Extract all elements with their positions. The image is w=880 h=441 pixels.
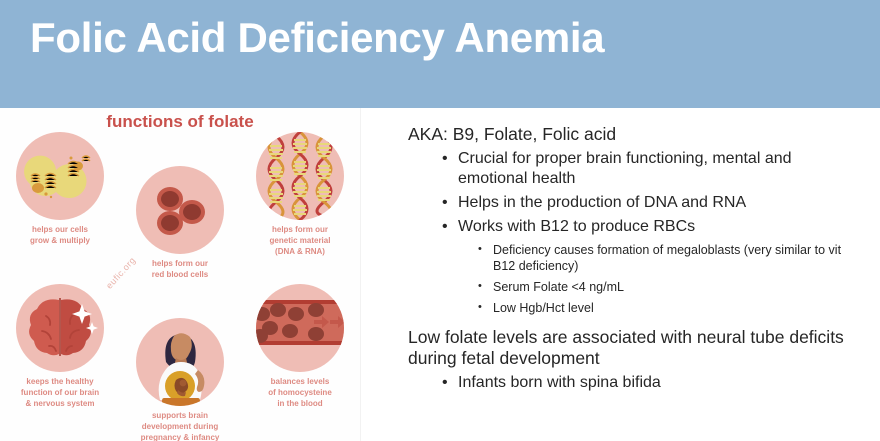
infographic-caption: helps form our red blood cells	[120, 259, 240, 281]
dna-helix-icon	[256, 132, 344, 220]
infographic-caption: balances levels of homocysteine in the b…	[240, 377, 360, 409]
slide-content: AKA: B9, Folate, Folic acid Crucial for …	[408, 124, 860, 393]
bullet-item: Crucial for proper brain functioning, me…	[442, 149, 860, 189]
sub-bullet-item: Low Hgb/Hct level	[478, 300, 860, 316]
infographic-caption: helps our cells grow & multiply	[0, 225, 120, 247]
bullet-item: Infants born with spina bifida	[442, 373, 860, 393]
content-heading-aka: AKA: B9, Folate, Folic acid	[408, 124, 860, 145]
title-banner: Folic Acid Deficiency Anemia	[0, 0, 880, 108]
content-heading-neural-tube: Low folate levels are associated with ne…	[408, 327, 860, 370]
slide: Folic Acid Deficiency Anemia functions o…	[0, 0, 880, 441]
bullet-item: Helps in the production of DNA and RNA	[442, 193, 860, 213]
panel-divider	[360, 108, 361, 441]
sub-bullet-item: Deficiency causes formation of megalobla…	[478, 242, 860, 274]
infographic-item-pregnancy: supports brain development during pregna…	[120, 318, 240, 441]
infographic-caption: helps form our genetic material (DNA & R…	[240, 225, 360, 257]
pregnant-woman-icon	[136, 318, 224, 406]
blood-vessel-icon	[256, 284, 344, 372]
page-title: Folic Acid Deficiency Anemia	[30, 14, 604, 62]
infographic-caption: supports brain development during pregna…	[120, 411, 240, 441]
infographic-item-dna: helps form our genetic material (DNA & R…	[240, 132, 360, 257]
infographic-caption: keeps the healthy function of our brain …	[0, 377, 120, 409]
sub-bullet-item: Serum Folate <4 ng/mL	[478, 279, 860, 295]
dividing-cells-icon	[16, 132, 104, 220]
brain-icon	[16, 284, 104, 372]
infographic-item-homocysteine: balances levels of homocysteine in the b…	[240, 284, 360, 409]
folate-functions-infographic: functions of folate	[0, 108, 360, 441]
infographic-item-cells: helps our cells grow & multiply	[0, 132, 120, 247]
infographic-title: functions of folate	[0, 112, 360, 132]
bullet-item: Works with B12 to produce RBCs	[442, 217, 860, 237]
red-blood-cells-icon	[136, 166, 224, 254]
infographic-item-brain: keeps the healthy function of our brain …	[0, 284, 120, 409]
infographic-item-rbc: helps form our red blood cells	[120, 166, 240, 281]
